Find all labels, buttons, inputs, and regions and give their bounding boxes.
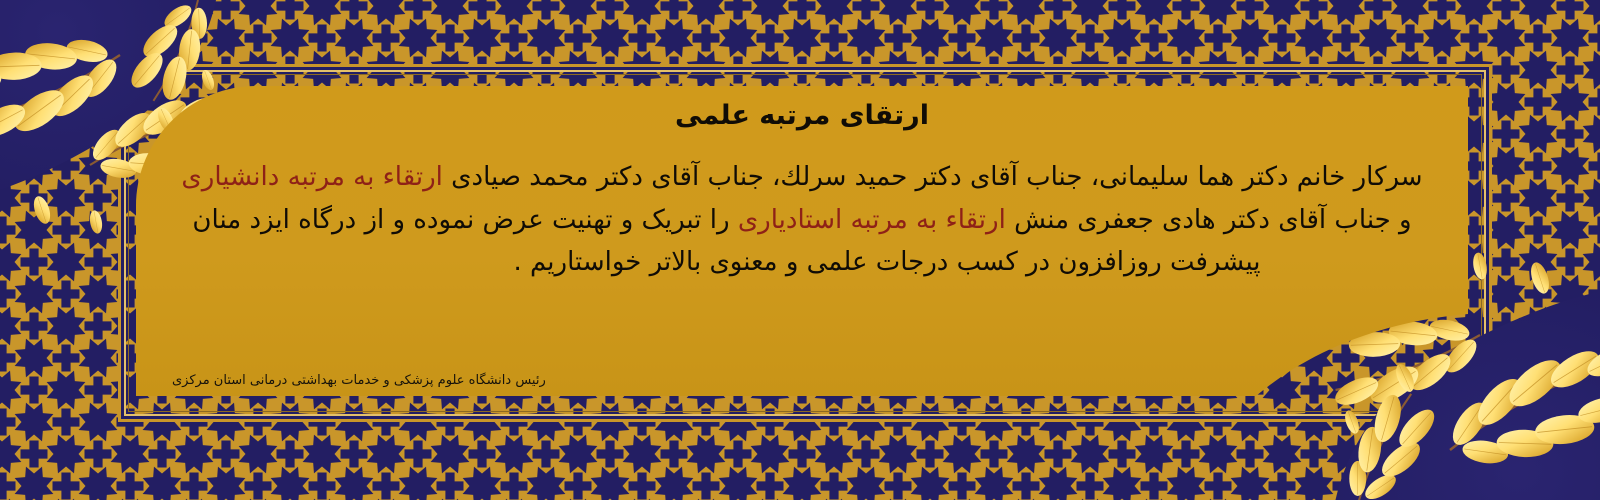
line-3-segment-black: پیشرفت روزافزون در کسب درجات علمی و معنو… <box>513 247 1260 277</box>
line-2-segment-black-b: را تبریک و تهنیت عرض نموده و از درگاه ای… <box>192 205 737 235</box>
line-1-segment-highlight: ارتقاء به مرتبه دانشیاری <box>181 162 443 192</box>
announcement-line-2: و جناب آقای دکتر هادی جعفری منش ارتقاء ب… <box>150 199 1454 241</box>
page-title: ارتقای مرتبه علمی <box>136 86 1468 132</box>
line-1-segment-black: سرکار خانم دکتر هما سلیمانی، جناب آقای د… <box>443 162 1423 192</box>
line-2-segment-highlight: ارتقاء به مرتبه استادیاری <box>738 205 1006 235</box>
announcement-line-1: سرکار خانم دکتر هما سلیمانی، جناب آقای د… <box>150 156 1454 198</box>
announcement-line-3: پیشرفت روزافزون در کسب درجات علمی و معنو… <box>150 241 1454 283</box>
poster-content: ارتقای مرتبه علمی سرکار خانم دکتر هما سل… <box>136 86 1468 396</box>
line-2-segment-black-a: و جناب آقای دکتر هادی جعفری منش <box>1006 205 1412 235</box>
announcement-body: سرکار خانم دکتر هما سلیمانی، جناب آقای د… <box>136 156 1468 282</box>
poster-canvas: ارتقای مرتبه علمی سرکار خانم دکتر هما سل… <box>0 0 1600 500</box>
signature-line: رئیس دانشگاه علوم پزشکی و خدمات بهداشتی … <box>172 373 546 388</box>
